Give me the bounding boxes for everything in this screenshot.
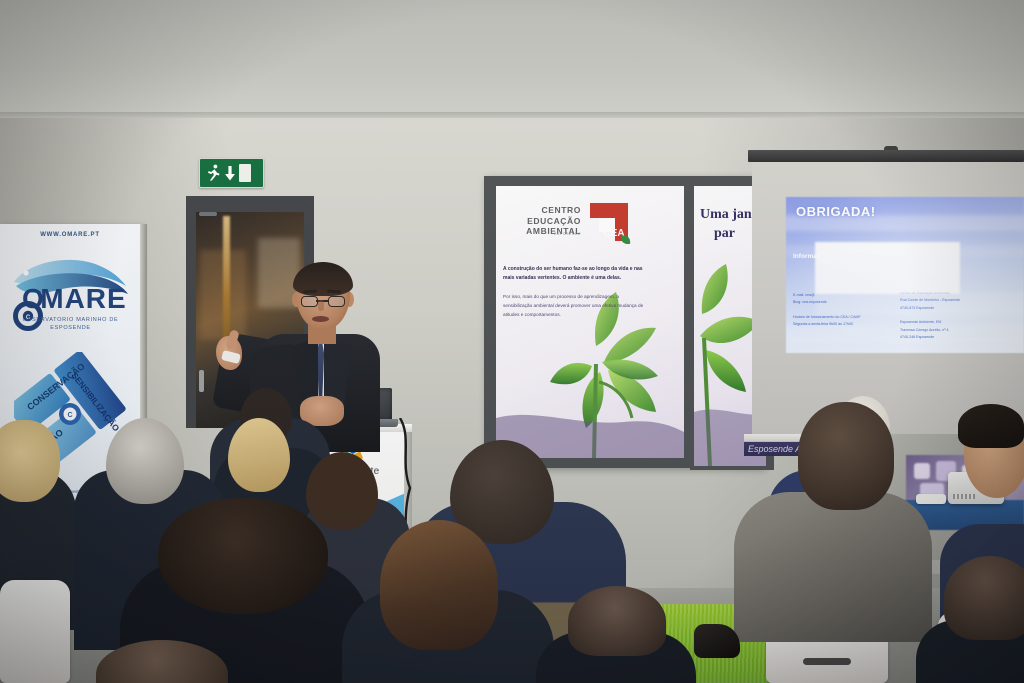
cea-paragraph-2: Por isso, mais do que um processo de apr…	[503, 292, 649, 319]
ceiling	[0, 0, 1024, 120]
eyeglasses-right-lens	[328, 296, 345, 307]
cea-logo-line1: CENTRO	[503, 205, 581, 216]
projector-glow	[786, 197, 1024, 353]
cea-logo-mark: CEA	[587, 200, 631, 244]
svg-text:C: C	[67, 412, 72, 419]
speaker-mouth	[312, 316, 329, 322]
cea-logo-subtitle: ESPOSENDE	[503, 232, 581, 236]
door-hinge	[199, 212, 217, 216]
projector-vent	[953, 494, 975, 499]
omare-banner-url: WWW.OMARE.PT	[10, 232, 130, 238]
cea-paragraph-1: A construção do ser humano faz-se ao lon…	[503, 265, 649, 284]
running-man-icon	[204, 163, 223, 183]
screen-top-bar	[748, 150, 1024, 162]
audience-a11-hair	[958, 404, 1024, 448]
chair-left-1	[0, 580, 70, 683]
omare-wordmark: MARE O	[8, 285, 133, 313]
down-arrow-icon	[223, 163, 237, 183]
emergency-exit-sign	[199, 158, 264, 188]
omare-subtitle: OBSERVATORIO MARINHO DE ESPOSENDE	[8, 316, 133, 333]
omare-subtitle-line2: ESPOSENDE	[8, 324, 133, 332]
door-handle[interactable]	[199, 370, 204, 392]
audience-shoe	[694, 624, 740, 658]
omare-subtitle-line1: OBSERVATORIO MARINHO DE	[8, 316, 133, 324]
presentation-room-photo: C WWW.OMARE.PT MARE O OBSERVATORIO MARIN…	[0, 0, 1024, 683]
omare-wordmark-initial: O	[22, 285, 45, 313]
cea-logo-line2: EDUCAÇÃO	[503, 216, 581, 227]
presentation-remote[interactable]	[916, 494, 946, 504]
exit-door-glyph	[239, 164, 251, 182]
speaker-nose	[318, 300, 324, 311]
